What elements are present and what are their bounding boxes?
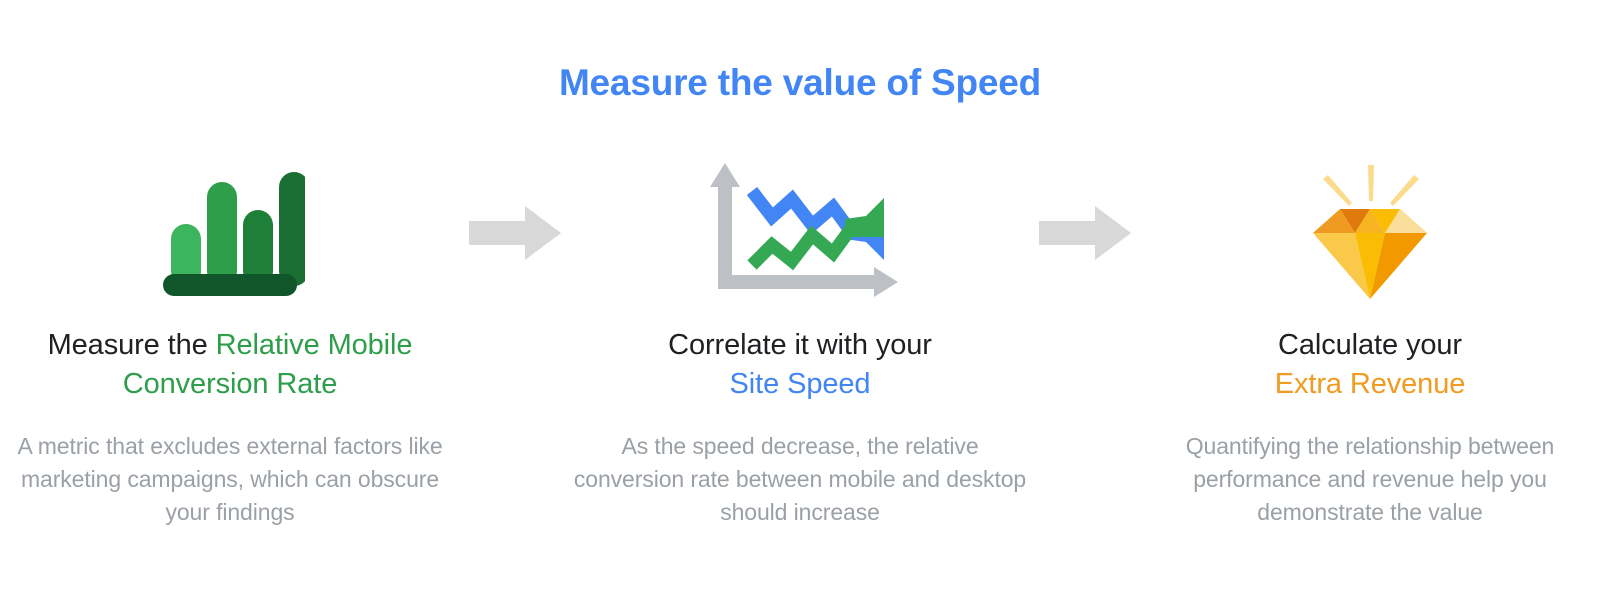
green-trend-line: [752, 227, 852, 265]
bar-chart-icon: [155, 158, 305, 308]
connector-2: [1030, 158, 1140, 308]
step-heading-2: Correlate it with your Site Speed: [668, 326, 932, 404]
trend-lines-chart-icon: [700, 158, 900, 308]
sparkle-rays: [1323, 165, 1419, 206]
page-title: Measure the value of Speed: [0, 62, 1600, 104]
trend-lines-chart-icon-svg: [700, 161, 900, 306]
step-description-2: As the speed decrease, the relative conv…: [570, 430, 1030, 529]
arrow-right-icon: [1039, 206, 1131, 260]
step-description-3: Quantifying the relationship between per…: [1140, 430, 1600, 529]
step-heading-plain-3: Calculate your: [1278, 329, 1462, 361]
infographic-page: Measure the value of Speed Measure the R…: [0, 0, 1600, 612]
step-column-1: Measure the Relative Mobile Conversion R…: [0, 158, 460, 529]
step-heading-3: Calculate your Extra Revenue: [1275, 326, 1466, 404]
step-column-2: Correlate it with your Site Speed As the…: [570, 158, 1030, 529]
step-description-1: A metric that excludes external factors …: [0, 430, 460, 529]
blue-trend-line: [752, 191, 852, 233]
arrow-right-icon: [469, 206, 561, 260]
step-heading-1: Measure the Relative Mobile Conversion R…: [0, 326, 460, 404]
step-heading-plain-1: Measure the: [48, 329, 216, 361]
step-heading-accent-3: Extra Revenue: [1275, 368, 1466, 400]
step-column-3: Calculate your Extra Revenue Quantifying…: [1140, 158, 1600, 529]
step-heading-accent-2: Site Speed: [730, 368, 871, 400]
connector-1: [460, 158, 570, 308]
bar-chart-icon-svg: [155, 168, 305, 298]
steps-row: Measure the Relative Mobile Conversion R…: [0, 158, 1600, 529]
gem-icon-svg: [1295, 161, 1445, 306]
green-trend-arrowhead: [845, 198, 884, 237]
gem-icon: [1295, 158, 1445, 308]
step-heading-plain-2: Correlate it with your: [668, 329, 932, 361]
